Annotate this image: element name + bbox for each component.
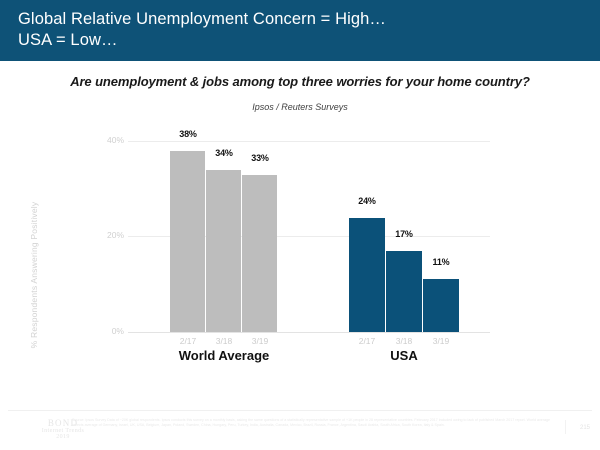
bar-value-usa-3-18: 17% [378,229,430,239]
y-axis-label: % Respondents Answering Positively [29,175,39,375]
slide-header: Global Relative Unemployment Concern = H… [0,0,600,61]
bar-usa-3-19[interactable] [423,279,459,332]
footer-divider-rule [8,410,592,411]
bar-world-3-18[interactable] [206,170,241,332]
bond-logo-year: 2019 [8,434,118,440]
y-tick-0: 0% [88,326,124,336]
y-tick-20: 20% [88,230,124,240]
header-title-line-1: Global Relative Unemployment Concern = H… [18,9,600,30]
bar-chart: % Respondents Answering Positively 40% 2… [0,120,600,385]
bar-value-usa-3-19: 11% [415,257,467,267]
group-label-world-average: World Average [158,348,290,363]
bar-world-3-19[interactable] [242,175,277,332]
x-tick-usa-3-19: 3/19 [415,336,467,346]
bar-world-2-17[interactable] [170,151,205,332]
group-label-usa: USA [338,348,470,363]
x-tick-world-3-19: 3/19 [234,336,286,346]
header-title-line-2: USA = Low… [18,30,600,51]
footer-page-divider [565,420,566,434]
page-number: 215 [580,425,590,431]
footnote-source-text: Source: Ipsos Survey Data of ~20K global… [72,418,552,429]
y-tick-40: 40% [88,135,124,145]
chart-source-label: Ipsos / Reuters Surveys [0,102,600,112]
chart-question-title: Are unemployment & jobs among top three … [0,74,600,89]
bar-value-usa-2-17: 24% [341,196,393,206]
bar-value-world-3-19: 33% [234,153,286,163]
plot-area: 38% 34% 33% 24% 17% 11% 2/17 3/18 3/19 2… [128,120,490,333]
bar-value-world-2-17: 38% [162,129,214,139]
